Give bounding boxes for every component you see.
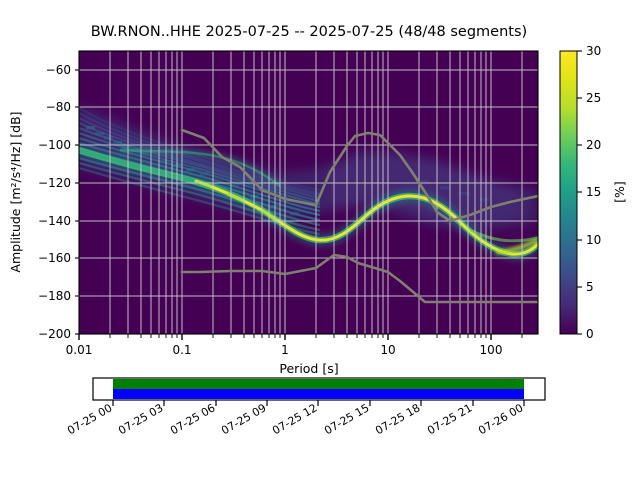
x-minor-tick-marks <box>110 334 522 338</box>
y-tick-label-3: −120 <box>38 176 71 190</box>
x-axis-label: Period [s] <box>279 361 338 376</box>
colorbar-tick-label-6: 30 <box>586 44 601 58</box>
y-tick-label-5: −160 <box>38 251 71 265</box>
y-tick-label-2: −100 <box>38 138 71 152</box>
y-tick-label-1: −80 <box>46 100 71 114</box>
y-tick-label-6: −180 <box>38 289 71 303</box>
x-tick-label-2: 1 <box>281 343 289 357</box>
colorbar-gradient[interactable] <box>560 51 577 334</box>
y-tick-label-7: −200 <box>38 327 71 341</box>
x-tick-label-0: 0.01 <box>66 343 93 357</box>
colorbar-tick-label-2: 10 <box>586 233 601 247</box>
x-tick-label-1: 0.1 <box>172 343 191 357</box>
figure-canvas: BW.RNON..HHE 2025-07-25 -- 2025-07-25 (4… <box>0 0 640 480</box>
colorbar-label: [%] <box>612 181 627 203</box>
colorbar-tick-label-5: 25 <box>586 91 601 105</box>
x-tick-label-4: 100 <box>480 343 503 357</box>
ppsd-figure: BW.RNON..HHE 2025-07-25 -- 2025-07-25 (4… <box>0 0 640 480</box>
x-tick-label-3: 10 <box>380 343 395 357</box>
coverage-data-bar[interactable] <box>113 379 524 389</box>
colorbar-tick-label-3: 15 <box>586 185 601 199</box>
y-axis-label: Amplitude [m²/s⁴/Hz] [dB] <box>8 111 23 272</box>
colorbar-tick-label-1: 5 <box>586 280 594 294</box>
colorbar-tick-label-0: 0 <box>586 327 594 341</box>
colorbar-tick-label-4: 20 <box>586 138 601 152</box>
y-tick-label-4: −140 <box>38 214 71 228</box>
coverage-psd-bar[interactable] <box>113 389 524 399</box>
page-title: BW.RNON..HHE 2025-07-25 -- 2025-07-25 (4… <box>91 24 527 40</box>
ppsd-axes: −60 −80 −100 −120 −140 −160 −180 −200 Am… <box>8 51 538 376</box>
y-tick-label-0: −60 <box>46 63 71 77</box>
